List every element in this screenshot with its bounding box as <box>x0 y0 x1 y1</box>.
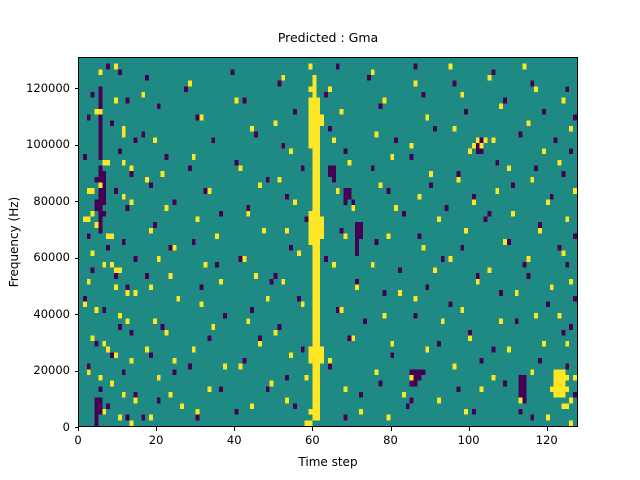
x-tick-label: 80 <box>361 433 421 447</box>
x-tick-mark <box>391 427 392 431</box>
x-tick-label: 40 <box>204 433 264 447</box>
y-tick-label: 0 <box>0 421 70 434</box>
heatmap-image <box>79 58 577 426</box>
x-tick-label: 100 <box>439 433 499 447</box>
x-tick-label: 60 <box>282 433 342 447</box>
x-tick-mark <box>547 427 548 431</box>
heatmap-plot-area[interactable] <box>78 57 578 427</box>
y-tick-mark <box>75 314 79 315</box>
y-tick-label: 120000 <box>0 82 70 95</box>
x-tick-mark <box>78 427 79 431</box>
y-tick-label: 100000 <box>0 138 70 151</box>
x-tick-label: 120 <box>517 433 577 447</box>
x-tick-label: 0 <box>48 433 108 447</box>
y-tick-mark <box>75 145 79 146</box>
x-tick-mark <box>156 427 157 431</box>
x-tick-mark <box>312 427 313 431</box>
y-tick-mark <box>75 258 79 259</box>
x-axis-label: Time step <box>78 455 578 469</box>
y-tick-mark <box>75 371 79 372</box>
y-tick-label: 40000 <box>0 308 70 321</box>
figure-canvas: Predicted : Gma 020406080100120 02000040… <box>0 0 640 480</box>
x-tick-mark <box>469 427 470 431</box>
y-tick-label: 20000 <box>0 364 70 377</box>
x-tick-label: 20 <box>126 433 186 447</box>
page-title: Predicted : Gma <box>78 30 578 45</box>
x-tick-mark <box>234 427 235 431</box>
y-axis-label: Frequency (Hz) <box>7 197 21 288</box>
y-tick-mark <box>75 201 79 202</box>
y-tick-mark <box>75 88 79 89</box>
y-tick-mark <box>75 427 79 428</box>
